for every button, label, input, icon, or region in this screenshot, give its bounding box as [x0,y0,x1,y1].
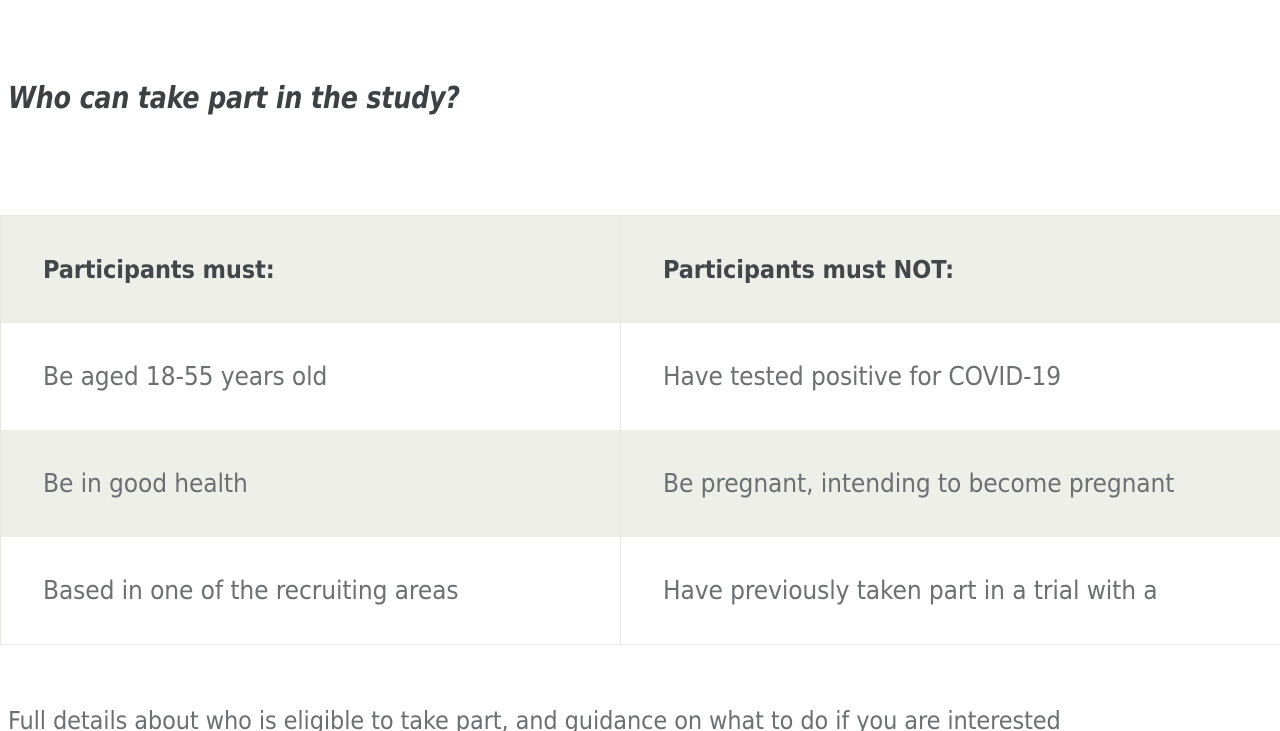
eligibility-table: Participants must: Participants must NOT… [0,215,1280,645]
cell-must: Be in good health [1,430,621,537]
below-table-paragraph: Full details about who is eligible to ta… [8,707,1280,731]
table-header-row: Participants must: Participants must NOT… [1,216,1280,324]
cell-must: Based in one of the recruiting areas [1,537,621,645]
cell-must-not: Have tested positive for COVID-19 [621,323,1280,430]
cell-must-not: Have previously taken part in a trial wi… [621,537,1280,645]
section-heading: Who can take part in the study? [8,79,460,119]
table-body: Be aged 18-55 years old Have tested posi… [1,323,1280,645]
eligibility-table-container: Participants must: Participants must NOT… [0,215,1280,645]
document-page: Who can take part in the study? Particip… [0,0,1280,731]
cell-must: Be aged 18-55 years old [1,323,621,430]
table-row: Based in one of the recruiting areas Hav… [1,537,1280,645]
table-row: Be aged 18-55 years old Have tested posi… [1,323,1280,430]
table-row: Be in good health Be pregnant, intending… [1,430,1280,537]
below-table-paragraph-text: Full details about who is eligible to ta… [8,707,1280,731]
column-header-must: Participants must: [1,216,621,324]
cell-must-not: Be pregnant, intending to become pregnan… [621,430,1280,537]
table-header: Participants must: Participants must NOT… [1,216,1280,324]
column-header-must-not: Participants must NOT: [621,216,1280,324]
